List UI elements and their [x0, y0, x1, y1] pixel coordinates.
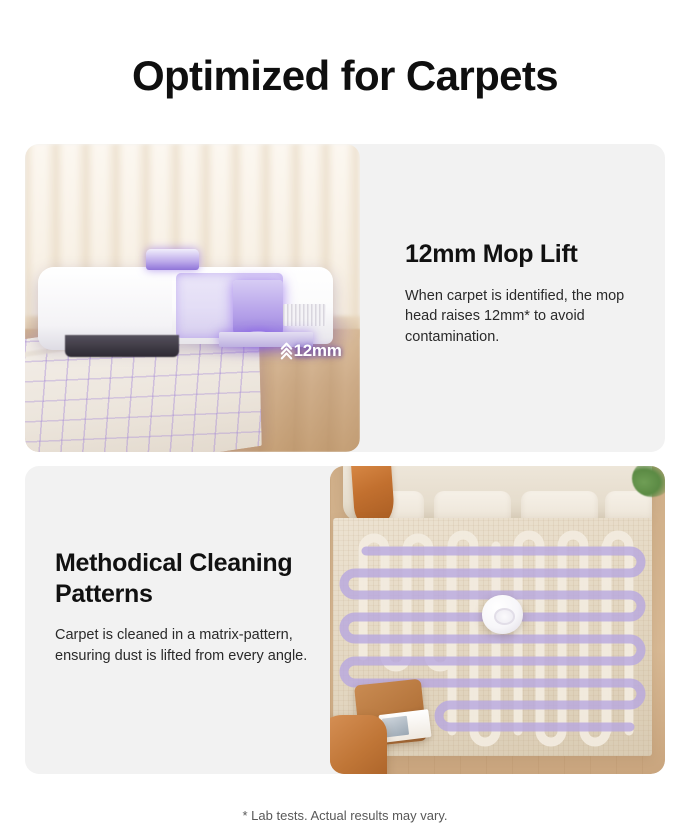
feature-card-cleaning-patterns: Methodical Cleaning Patterns Carpet is c…: [25, 466, 665, 774]
cleaning-patterns-photo: [330, 466, 665, 774]
robot-mop-module: [233, 280, 283, 339]
feature-card-mop-lift: 12mm 12mm Mop Lift When carpet is identi…: [25, 144, 665, 452]
robot-vacuum-topdown: [482, 595, 522, 634]
mop-lift-badge-label: 12mm: [294, 341, 342, 361]
mop-lift-text-block: 12mm Mop Lift When carpet is identified,…: [405, 239, 655, 347]
mop-lift-badge: 12mm: [280, 341, 342, 361]
mop-lift-photo: 12mm: [25, 144, 360, 452]
cleaning-patterns-heading: Methodical Cleaning Patterns: [55, 548, 330, 609]
robot-vent: [283, 304, 327, 326]
page-title: Optimized for Carpets: [0, 52, 690, 100]
armchair: [330, 715, 387, 774]
cleaning-patterns-body: Carpet is cleaned in a matrix-pattern, e…: [55, 625, 330, 666]
chevron-up-double-icon: [280, 341, 293, 361]
robot-brush-roll: [65, 335, 179, 357]
mop-lift-heading: 12mm Mop Lift: [405, 239, 655, 270]
mop-lift-body: When carpet is identified, the mop head …: [405, 286, 655, 348]
lidar-turret: [146, 249, 200, 271]
footnote-disclaimer: * Lab tests. Actual results may vary.: [0, 808, 690, 823]
cleaning-patterns-text-block: Methodical Cleaning Patterns Carpet is c…: [55, 548, 330, 666]
